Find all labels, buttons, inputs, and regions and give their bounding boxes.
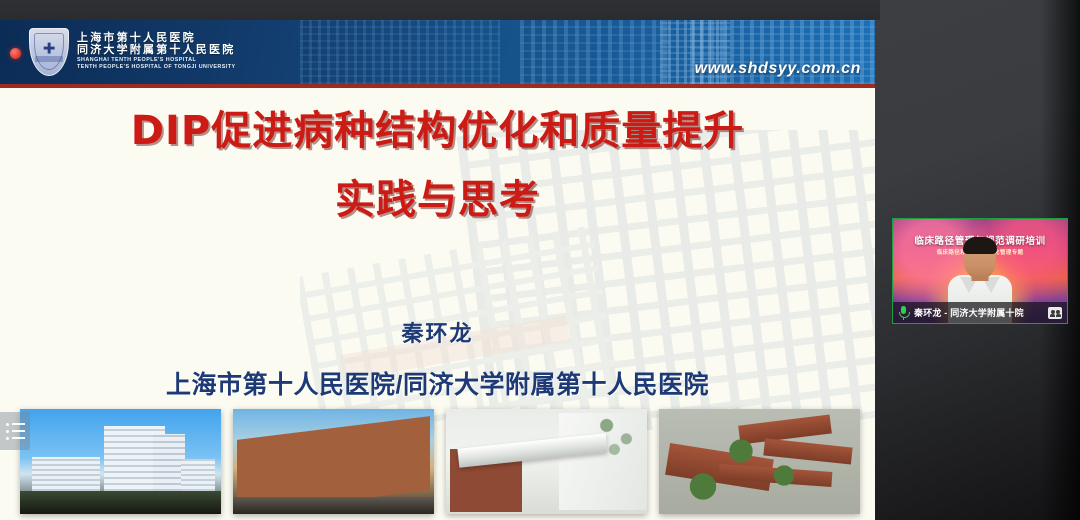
list-bullet-3 [6, 437, 9, 440]
photo1-foreground [20, 491, 221, 514]
participants-body-left [1050, 314, 1055, 317]
hospital-logo-lockup: ✚ 上海市第十人民医院 同济大学附属第十人民医院 SHANGHAI TENTH … [10, 28, 236, 76]
speaker-hair [963, 237, 997, 254]
presenter-organization: 上海市第十人民医院/同济大学附属第十人民医院 [0, 365, 875, 401]
list-row-1 [6, 423, 30, 426]
speaker-name-bar: 秦环龙 - 同济大学附属十院 [893, 302, 1067, 323]
list-row-3 [6, 437, 30, 440]
list-line-2 [12, 430, 25, 433]
participants-head-right [1056, 310, 1060, 314]
hospital-website-url: www.shdsyy.com.cn [695, 60, 861, 78]
slide-photo-1 [20, 409, 221, 514]
slide-title-line-1: DIP促进病种结构优化和质量提升 [0, 108, 875, 155]
mic-arc [899, 312, 910, 318]
participants-head-left [1051, 310, 1055, 314]
microphone-icon[interactable] [898, 306, 909, 320]
slide-header-band: ✚ 上海市第十人民医院 同济大学附属第十人民医院 SHANGHAI TENTH … [0, 20, 875, 84]
slide-title-block: DIP促进病种结构优化和质量提升 实践与思考 [0, 108, 875, 224]
hospital-name-cn-primary: 上海市第十人民医院 [77, 33, 236, 45]
speaker-video-tile[interactable]: 临床路径管理与规范调研培训 临床路径和DIP下精细化管理专题 秦环龙 - 同济大… [892, 218, 1068, 324]
header-building-art-2 [520, 20, 670, 84]
hospital-crest-icon: ✚ [29, 28, 69, 76]
photo4-tree-1 [687, 472, 719, 501]
hospital-name-cn-secondary: 同济大学附属第十人民医院 [77, 45, 236, 57]
participants-body-right [1056, 314, 1061, 317]
window-top-bar [0, 0, 880, 20]
header-building-art-1 [300, 20, 500, 84]
list-bullet-1 [6, 423, 9, 426]
presenter-name: 秦环龙 [0, 316, 875, 348]
photo1-left-wing [32, 457, 100, 491]
photo3-foliage [591, 411, 643, 459]
header-divider-rule [0, 84, 875, 88]
crest-cross-mark: ✚ [43, 42, 56, 57]
slide-photo-2 [233, 409, 434, 514]
presentation-slide: ✚ 上海市第十人民医院 同济大学附属第十人民医院 SHANGHAI TENTH … [0, 20, 875, 520]
photo1-right-wing [181, 459, 215, 491]
slide-title-line-2: 实践与思考 [0, 177, 875, 224]
photo4-tree-3 [772, 464, 796, 487]
speaker-name-label: 秦环龙 - 同济大学附属十院 [914, 306, 1043, 319]
photo2-road [233, 497, 434, 514]
hospital-name-block: 上海市第十人民医院 同济大学附属第十人民医院 SHANGHAI TENTH PE… [77, 33, 236, 71]
presenter-block: 秦环龙 上海市第十人民医院/同济大学附属第十人民医院 [0, 316, 875, 401]
participants-icon[interactable] [1048, 307, 1062, 319]
list-line-1 [12, 423, 25, 426]
list-bullet-2 [6, 430, 9, 433]
hospital-name-en-secondary: TENTH PEOPLE'S HOSPITAL OF TONGJI UNIVER… [77, 65, 236, 71]
list-row-2 [6, 430, 30, 433]
crest-ribbon [35, 56, 63, 62]
slide-photo-3 [446, 409, 647, 514]
slide-photo-4 [659, 409, 860, 514]
screen-root: ✚ 上海市第十人民医院 同济大学附属第十人民医院 SHANGHAI TENTH … [0, 0, 1080, 520]
photo4-roof-3 [763, 438, 853, 464]
slide-photo-strip [20, 409, 860, 514]
red-dot-icon [10, 48, 21, 59]
list-line-3 [12, 437, 25, 440]
photo4-tree-2 [727, 438, 755, 463]
mic-stem [903, 317, 904, 320]
list-outline-icon[interactable] [0, 412, 30, 450]
hospital-name-en-primary: SHANGHAI TENTH PEOPLE'S HOSPITAL [77, 58, 236, 64]
